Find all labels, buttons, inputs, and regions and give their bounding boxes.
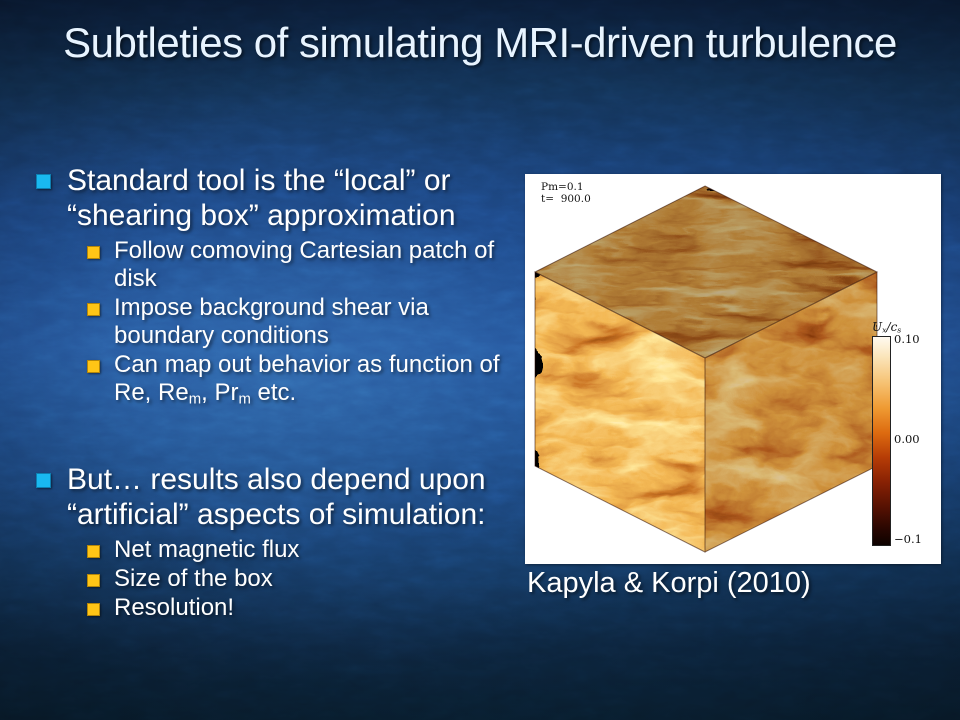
bullet-level2[interactable]: Net magnetic flux: [24, 536, 524, 564]
annotation-pm: Pm=0.1: [541, 181, 584, 193]
bullet-level1-label: But… results also depend upon “artificia…: [67, 462, 507, 532]
colorbar-tick-mid: 0.00: [894, 432, 920, 446]
colorbar-tick-max: 0.10: [894, 332, 920, 346]
figure-panel[interactable]: Pm=0.1 t= 900.0: [525, 174, 941, 564]
bullet-spacer: [24, 414, 524, 462]
page-title: Subtleties of simulating MRI-driven turb…: [60, 18, 900, 68]
bullet-marker-square-yellow: [87, 574, 100, 587]
figure-caption: Kapyla & Korpi (2010): [527, 566, 811, 600]
sub-bullet-group: Net magnetic flux Size of the box Resolu…: [24, 536, 524, 622]
bullet-marker-square-yellow: [87, 603, 100, 616]
bullet-level2[interactable]: Impose background shear via boundary con…: [24, 294, 524, 350]
colorbar-gradient: [872, 336, 891, 546]
bullet-list: Standard tool is the “local” or “shearin…: [24, 163, 524, 623]
text-part: Can map out behavior as function of Re, …: [114, 351, 500, 406]
subscript-m: m: [238, 391, 250, 407]
figure-annotations: Pm=0.1 t= 900.0: [541, 181, 591, 205]
simulation-cube-image: [533, 180, 881, 558]
text-part: etc.: [251, 379, 296, 406]
sub-bullet-group: Follow comoving Cartesian patch of disk …: [24, 237, 524, 413]
bullet-level2-label: Resolution!: [114, 594, 234, 622]
slide-canvas: Subtleties of simulating MRI-driven turb…: [0, 0, 960, 720]
bullet-level1[interactable]: Standard tool is the “local” or “shearin…: [24, 163, 524, 233]
bullet-marker-square-yellow: [87, 303, 100, 316]
bullet-level2-label: Net magnetic flux: [114, 536, 299, 564]
bullet-level2[interactable]: Can map out behavior as function of Re, …: [24, 351, 524, 413]
bullet-level2[interactable]: Resolution!: [24, 594, 524, 622]
bullet-level2-label: Size of the box: [114, 565, 273, 593]
text-part: , Pr: [201, 379, 238, 406]
bullet-marker-square-cyan: [36, 174, 51, 189]
bullet-level2[interactable]: Follow comoving Cartesian patch of disk: [24, 237, 524, 293]
annotation-time: t= 900.0: [541, 193, 591, 205]
bullet-marker-square-yellow: [87, 545, 100, 558]
bullet-level2-label: Follow comoving Cartesian patch of disk: [114, 237, 522, 293]
subscript-m: m: [189, 391, 201, 407]
label-u: U: [872, 320, 882, 334]
colorbar-tick-min: −0.1: [894, 532, 922, 546]
bullet-marker-square-yellow: [87, 360, 100, 373]
bullet-level1[interactable]: But… results also depend upon “artificia…: [24, 462, 524, 532]
bullet-marker-square-yellow: [87, 246, 100, 259]
bullet-marker-square-cyan: [36, 473, 51, 488]
colorbar: Ux/cs 0.10 0.00 −0.1: [871, 320, 933, 548]
bullet-level2-label: Impose background shear via boundary con…: [114, 294, 522, 350]
bullet-level2[interactable]: Size of the box: [24, 565, 524, 593]
bullet-level2-label-subscripted: Can map out behavior as function of Re, …: [114, 351, 522, 413]
bullet-level1-label: Standard tool is the “local” or “shearin…: [67, 163, 507, 233]
